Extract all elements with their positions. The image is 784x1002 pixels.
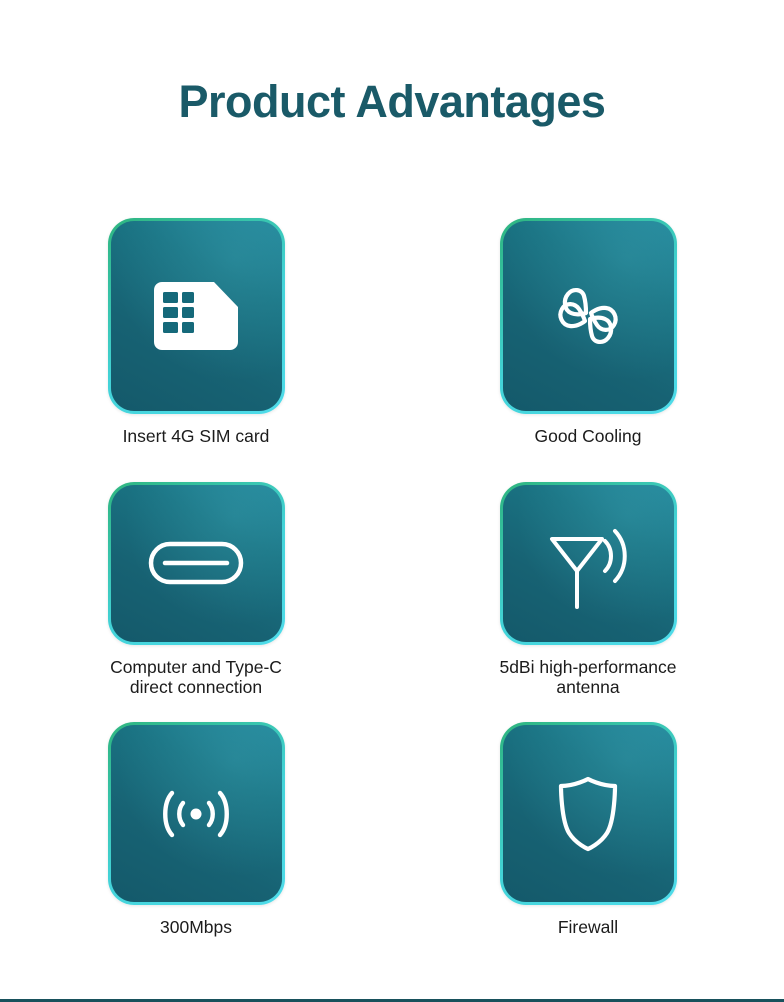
- advantage-label: Firewall: [438, 917, 738, 938]
- advantage-card[interactable]: [108, 218, 285, 414]
- product-advantages-page: Product Advantages: [0, 0, 784, 1002]
- advantage-card-inner: [111, 221, 282, 411]
- advantage-label: 5dBi high-performance antenna: [438, 657, 738, 698]
- advantage-label: Computer and Type-C direct connection: [46, 657, 346, 698]
- advantage-card-inner: [111, 725, 282, 902]
- shield-icon: [538, 764, 638, 864]
- advantage-card-inner: [111, 485, 282, 642]
- advantage-card[interactable]: [500, 722, 677, 905]
- advantage-card-inner: [503, 725, 674, 902]
- cooling-fan-icon: [538, 266, 638, 366]
- advantage-card[interactable]: [108, 722, 285, 905]
- advantage-item-cooling[interactable]: Good Cooling: [392, 218, 784, 458]
- advantage-item-firewall[interactable]: Firewall: [392, 698, 784, 938]
- advantage-label: Insert 4G SIM card: [46, 426, 346, 447]
- page-title: Product Advantages: [0, 76, 784, 128]
- usb-type-c-icon: [146, 513, 246, 613]
- advantage-card[interactable]: [500, 218, 677, 414]
- advantage-item-antenna[interactable]: 5dBi high-performance antenna: [392, 458, 784, 698]
- advantage-item-type-c[interactable]: Computer and Type-C direct connection: [0, 458, 392, 698]
- advantage-card-inner: [503, 221, 674, 411]
- advantage-item-sim-card[interactable]: Insert 4G SIM card: [0, 218, 392, 458]
- wifi-signal-icon: [146, 764, 246, 864]
- antenna-signal-icon: [538, 513, 638, 613]
- advantage-item-speed[interactable]: 300Mbps: [0, 698, 392, 938]
- advantage-card[interactable]: [500, 482, 677, 645]
- advantage-card[interactable]: [108, 482, 285, 645]
- advantages-grid: Insert 4G SIM card Good: [0, 218, 784, 938]
- advantage-label: Good Cooling: [438, 426, 738, 447]
- advantage-label: 300Mbps: [46, 917, 346, 938]
- sim-card-icon: [146, 266, 246, 366]
- advantage-card-inner: [503, 485, 674, 642]
